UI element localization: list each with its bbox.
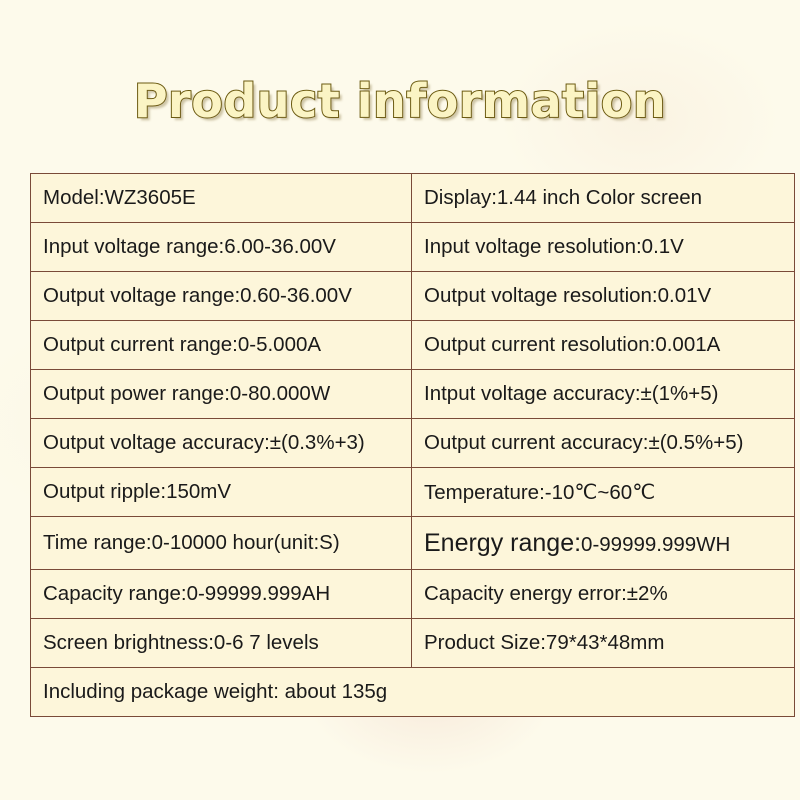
spec-cell-output-power-range: Output power range:0-80.000W <box>31 370 412 419</box>
table-row: Including package weight: about 135g <box>31 668 795 717</box>
title-container: Product information <box>0 74 800 128</box>
table-row: Capacity range:0-99999.999AH Capacity en… <box>31 570 795 619</box>
spec-cell-capacity-energy-error: Capacity energy error:±2% <box>412 570 795 619</box>
spec-cell-output-current-range: Output current range:0-5.000A <box>31 321 412 370</box>
spec-cell-time-range: Time range:0-10000 hour(unit:S) <box>31 517 412 570</box>
spec-cell-capacity-range: Capacity range:0-99999.999AH <box>31 570 412 619</box>
spec-cell-model: Model:WZ3605E <box>31 174 412 223</box>
spec-cell-energy-range-label: Energy range: <box>424 529 581 557</box>
spec-cell-package-weight: Including package weight: about 135g <box>31 668 795 717</box>
table-row: Output voltage accuracy:±(0.3%+3) Output… <box>31 419 795 468</box>
table-row: Screen brightness:0-6 7 levels Product S… <box>31 619 795 668</box>
spec-cell-product-size: Product Size:79*43*48mm <box>412 619 795 668</box>
specification-table-body: Model:WZ3605E Display:1.44 inch Color sc… <box>31 174 795 717</box>
page-title: Product information <box>134 74 666 128</box>
spec-cell-energy-range-value: 0-99999.999WH <box>581 533 730 556</box>
table-row: Model:WZ3605E Display:1.44 inch Color sc… <box>31 174 795 223</box>
spec-cell-output-voltage-range: Output voltage range:0.60-36.00V <box>31 272 412 321</box>
spec-cell-output-voltage-accuracy: Output voltage accuracy:±(0.3%+3) <box>31 419 412 468</box>
spec-cell-output-current-resolution: Output current resolution:0.001A <box>412 321 795 370</box>
spec-cell-output-ripple: Output ripple:150mV <box>31 468 412 517</box>
table-row: Input voltage range:6.00-36.00V Input vo… <box>31 223 795 272</box>
spec-cell-output-current-accuracy: Output current accuracy:±(0.5%+5) <box>412 419 795 468</box>
table-row: Output power range:0-80.000W Intput volt… <box>31 370 795 419</box>
spec-cell-temperature: Temperature:-10℃~60℃ <box>412 468 795 517</box>
spec-cell-display: Display:1.44 inch Color screen <box>412 174 795 223</box>
spec-cell-input-voltage-range: Input voltage range:6.00-36.00V <box>31 223 412 272</box>
spec-cell-output-voltage-resolution: Output voltage resolution:0.01V <box>412 272 795 321</box>
spec-cell-input-voltage-accuracy: Intput voltage accuracy:±(1%+5) <box>412 370 795 419</box>
specification-table: Model:WZ3605E Display:1.44 inch Color sc… <box>30 173 795 717</box>
table-row: Output current range:0-5.000A Output cur… <box>31 321 795 370</box>
table-row: Output ripple:150mV Temperature:-10℃~60℃ <box>31 468 795 517</box>
table-row: Time range:0-10000 hour(unit:S) Energy r… <box>31 517 795 570</box>
table-row: Output voltage range:0.60-36.00V Output … <box>31 272 795 321</box>
spec-cell-screen-brightness: Screen brightness:0-6 7 levels <box>31 619 412 668</box>
spec-cell-energy-range: Energy range:0-99999.999WH <box>412 517 795 570</box>
spec-cell-input-voltage-resolution: Input voltage resolution:0.1V <box>412 223 795 272</box>
